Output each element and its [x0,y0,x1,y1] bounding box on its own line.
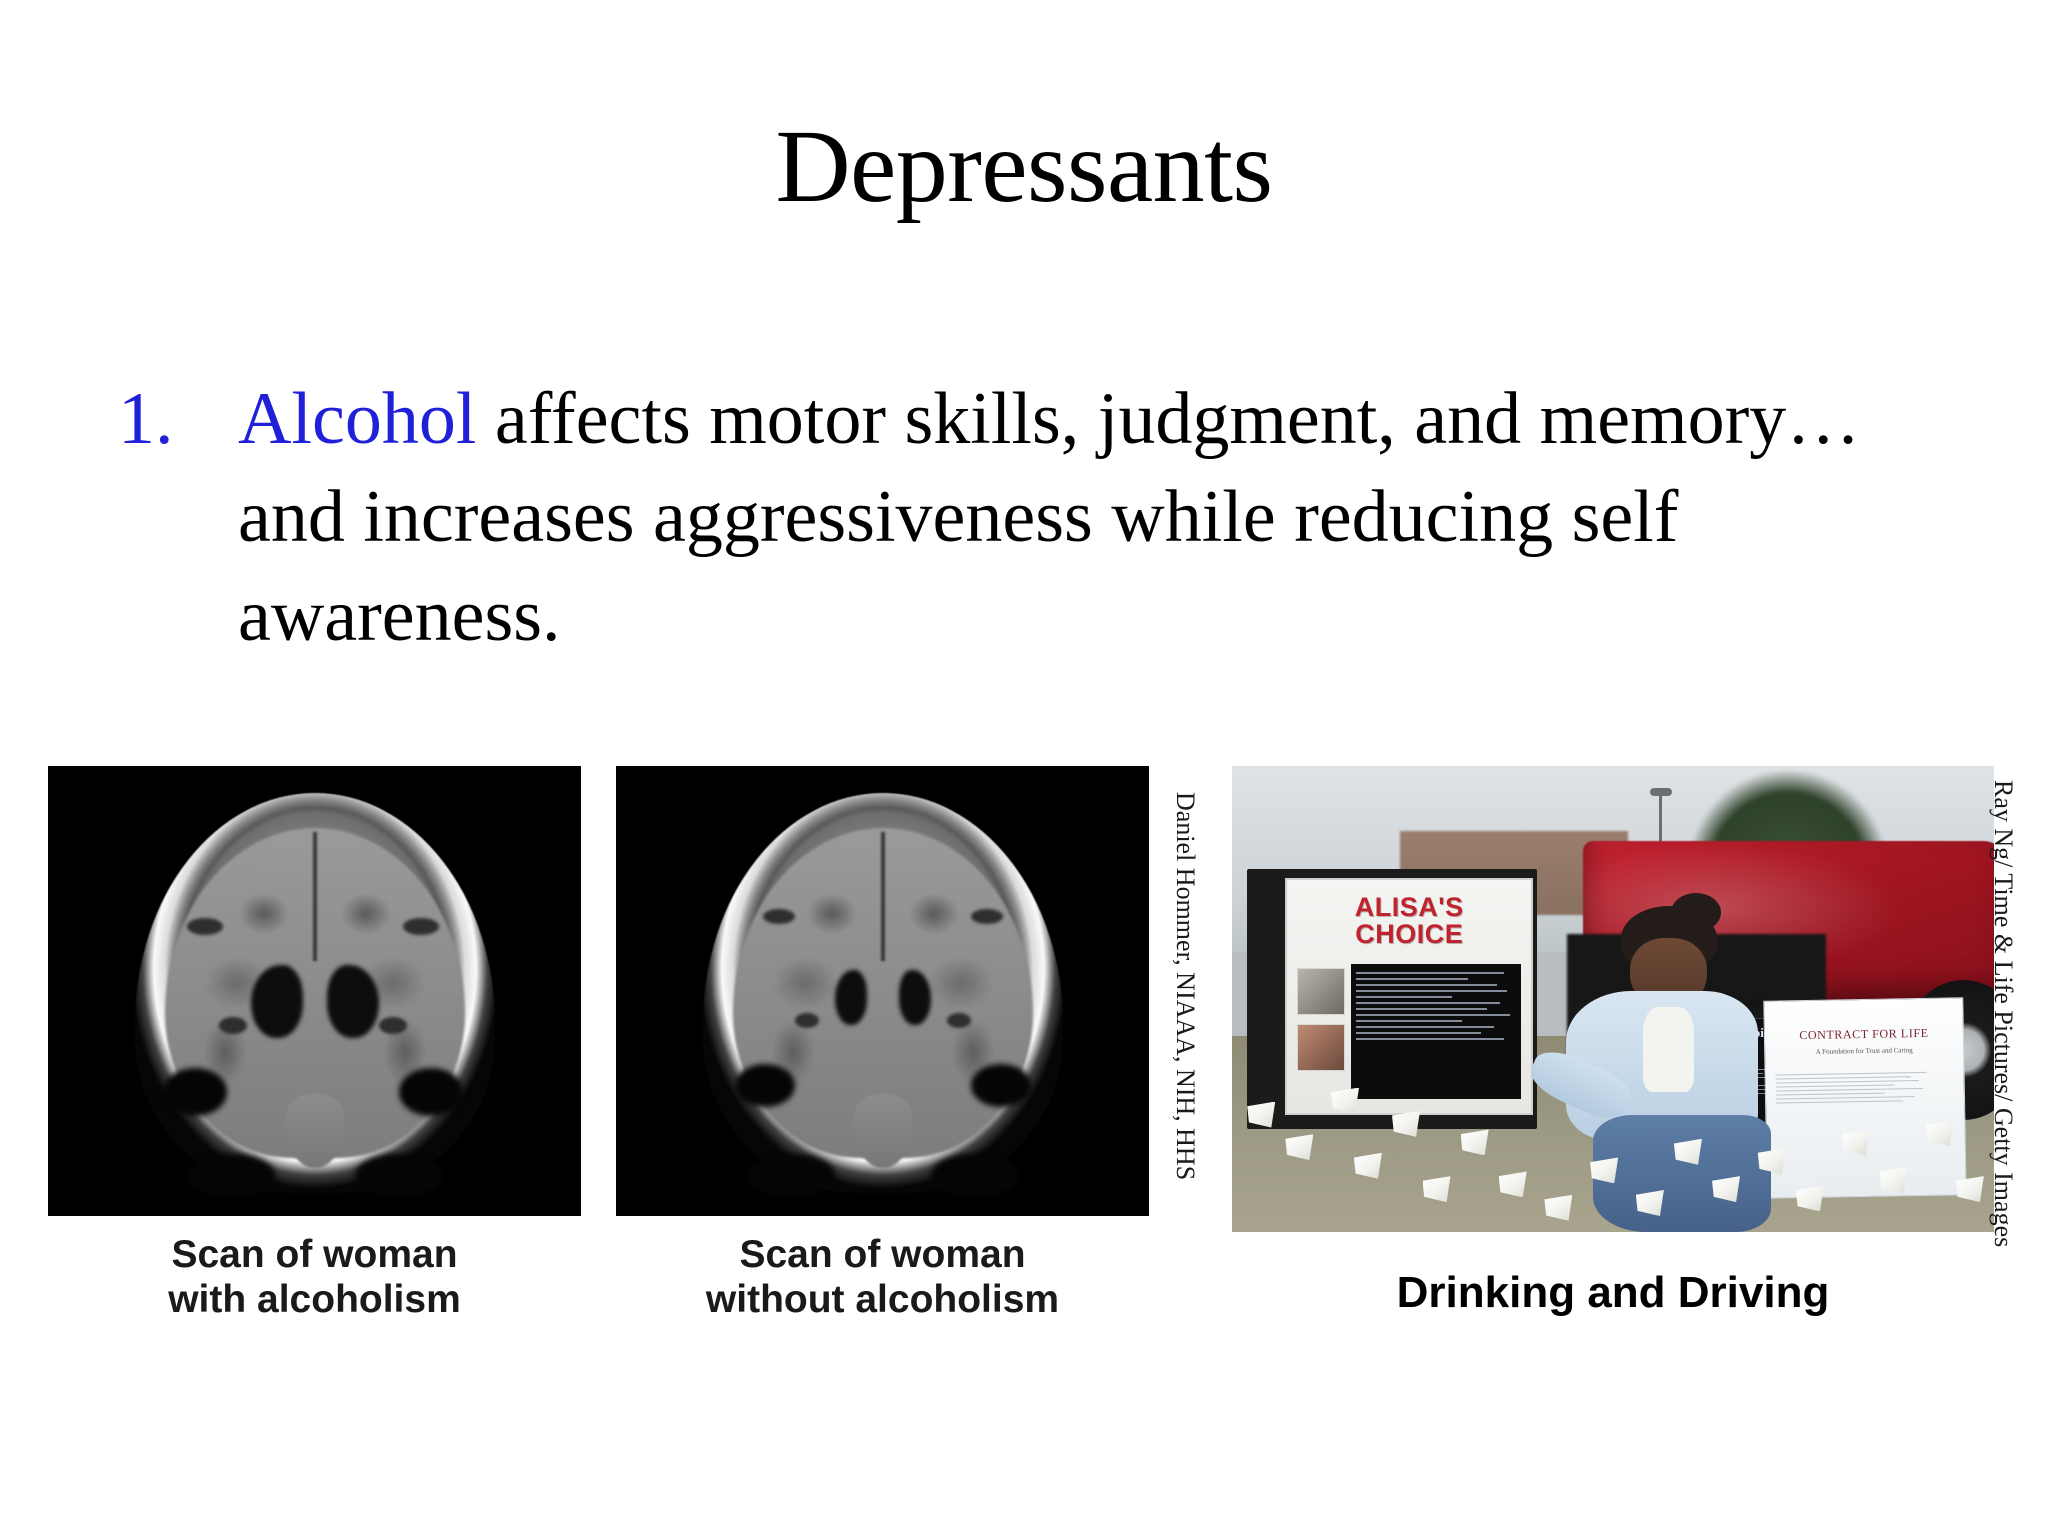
brain-scan-with-alcoholism-image [48,766,581,1216]
temporal-region [971,1064,1031,1107]
skull-base-shadow [355,1154,443,1197]
sulcus [219,1017,247,1034]
skull-base-shadow [931,1154,1019,1197]
interhemispheric-fissure [881,832,885,961]
photo-contract-for-life-poster: CONTRACT FOR LIFE A Foundation for Trust… [1764,997,1968,1198]
sulcus [795,1013,819,1028]
photo-sign-thumbnail [1297,968,1345,1014]
caption-line-1: Scan of woman [616,1232,1149,1277]
bullet-list: 1. Alcohol affects motor skills, judgmen… [118,370,1958,665]
bullet-keyword-alcohol: Alcohol [238,378,476,460]
sign-title-line-1: ALISA'S [1287,894,1531,922]
bullet-text: Alcohol affects motor skills, judgment, … [238,370,1938,665]
temporal-region [735,1064,795,1107]
lateral-ventricle-left [835,970,867,1026]
drinking-and-driving-photo: ALISA'S CHOICE Life & Death Choices CONT… [1232,766,1994,1232]
photo-contract-title: CONTRACT FOR LIFE [1765,1026,1963,1044]
sulcus [947,1013,971,1028]
photo-alisas-choice-sign: ALISA'S CHOICE [1285,878,1533,1115]
interhemispheric-fissure [313,832,317,961]
page-title: Depressants [0,112,2048,222]
sign-title-line-2: CHOICE [1287,921,1531,949]
mri-coronal-slice [683,776,1083,1206]
brain-scan-without-alcoholism-caption: Scan of woman without alcoholism [616,1232,1149,1322]
photo-woman-placing-flags [1552,906,1781,1232]
photo-shirt [1643,1007,1693,1092]
sulcus [379,1017,407,1034]
brain-scan-credit: Daniel Hommer, NIAAA, NIH, HHS [1170,792,1200,1180]
lateral-ventricle-left [251,965,303,1038]
skull-base-shadow [187,1154,275,1197]
caption-line-2: with alcoholism [48,1277,581,1322]
drinking-and-driving-caption: Drinking and Driving [1232,1268,1994,1318]
temporal-region [163,1068,227,1115]
caption-line-2: without alcoholism [616,1277,1149,1322]
mri-coronal-slice [115,776,515,1206]
sulcus [403,918,439,935]
skull-base-shadow [747,1154,835,1197]
photo-sign-title: ALISA'S CHOICE [1287,894,1531,949]
photo-contract-subtitle: A Foundation for Trust and Caring [1766,1045,1964,1056]
bullet-body-text: affects motor skills, judgment, and memo… [238,378,1860,657]
photo-sign-text-panel [1351,964,1522,1099]
sulcus [187,918,223,935]
photo-credit: Ray Ng/ Time & Life Pictures/ Getty Imag… [1988,780,2018,1247]
brain-scan-without-alcoholism-image [616,766,1149,1216]
temporal-region [399,1068,463,1115]
caption-line-1: Scan of woman [48,1232,581,1277]
photo-jeans [1593,1115,1771,1232]
photo-sign-thumbnail [1297,1024,1345,1070]
bullet-number: 1. [118,370,238,468]
brain-scan-with-alcoholism-caption: Scan of woman with alcoholism [48,1232,581,1322]
